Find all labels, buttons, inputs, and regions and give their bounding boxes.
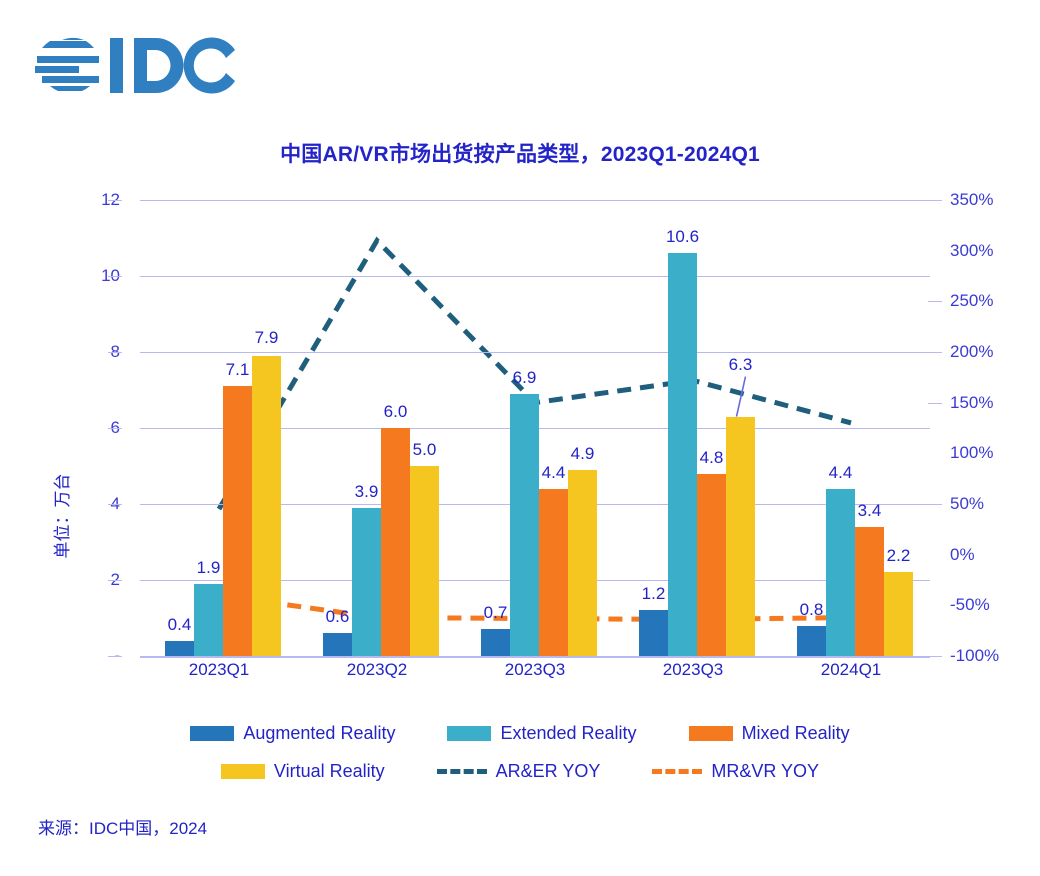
legend-swatch — [689, 726, 733, 741]
bar-value-label: 4.8 — [700, 448, 724, 468]
legend-item-mr-vr-yoy[interactable]: MR&VR YOY — [652, 761, 819, 782]
bar-virtual-reality[interactable] — [726, 417, 755, 656]
bar-extended-reality[interactable] — [194, 584, 223, 656]
left-tick-mark — [108, 504, 122, 505]
bar-augmented-reality[interactable] — [323, 633, 352, 656]
bar-value-label: 4.4 — [542, 463, 566, 483]
bar-mixed-reality[interactable] — [381, 428, 410, 656]
x-axis-label: 2023Q1 — [189, 660, 250, 680]
legend-label: MR&VR YOY — [711, 761, 819, 782]
legend-label: AR&ER YOY — [496, 761, 601, 782]
bar-mixed-reality[interactable] — [223, 386, 252, 656]
gridline — [140, 352, 930, 353]
right-tick-mark — [928, 301, 942, 302]
bar-value-label: 0.8 — [800, 600, 824, 620]
bar-value-label: 10.6 — [666, 227, 699, 247]
right-axis-tick: -50% — [950, 595, 1012, 615]
legend-row-top: Augmented RealityExtended RealityMixed R… — [0, 714, 1040, 752]
bar-virtual-reality[interactable] — [410, 466, 439, 656]
bar-value-label: 1.9 — [197, 558, 221, 578]
bar-mixed-reality[interactable] — [697, 474, 726, 656]
right-axis-tick: 350% — [950, 190, 1012, 210]
x-axis-label: 2024Q1 — [821, 660, 882, 680]
legend-item-augmented-reality[interactable]: Augmented Reality — [190, 723, 395, 744]
right-axis-tick: 300% — [950, 241, 1012, 261]
bar-value-label: 6.9 — [513, 368, 537, 388]
bar-value-label: 4.4 — [829, 463, 853, 483]
left-tick-mark — [108, 656, 122, 657]
right-axis-tick: 100% — [950, 443, 1012, 463]
bar-value-label: 6.0 — [384, 402, 408, 422]
bar-extended-reality[interactable] — [510, 394, 539, 656]
bar-value-label: 0.6 — [326, 607, 350, 627]
legend-item-ar-er-yoy[interactable]: AR&ER YOY — [437, 761, 601, 782]
bar-value-label: 0.4 — [168, 615, 192, 635]
x-axis-label: 2023Q3 — [505, 660, 566, 680]
bar-virtual-reality[interactable] — [884, 572, 913, 656]
left-tick-mark — [108, 428, 122, 429]
legend-swatch — [221, 764, 265, 779]
bar-augmented-reality[interactable] — [165, 641, 194, 656]
bar-extended-reality[interactable] — [352, 508, 381, 656]
bar-value-label: 3.4 — [858, 501, 882, 521]
left-tick-mark — [108, 352, 122, 353]
gridline — [140, 276, 930, 277]
bar-augmented-reality[interactable] — [797, 626, 826, 656]
plot-region: 0.41.97.17.92023Q10.63.96.05.02023Q20.76… — [140, 186, 930, 656]
bar-augmented-reality[interactable] — [639, 610, 668, 656]
bar-virtual-reality[interactable] — [252, 356, 281, 656]
legend-dash-icon — [437, 769, 487, 774]
right-axis-tick: 0% — [950, 545, 1012, 565]
right-tick-mark — [928, 504, 942, 505]
right-tick-mark — [928, 403, 942, 404]
idc-logo — [30, 28, 240, 100]
bar-value-label: 2.2 — [887, 546, 911, 566]
bar-virtual-reality[interactable] — [568, 470, 597, 656]
chart-title: 中国AR/VR市场出货按产品类型，2023Q1-2024Q1 — [0, 138, 1040, 168]
right-axis-tick: -100% — [950, 646, 1012, 666]
legend-item-extended-reality[interactable]: Extended Reality — [447, 723, 636, 744]
right-axis-tick: 200% — [950, 342, 1012, 362]
legend-row-bottom: Virtual RealityAR&ER YOYMR&VR YOY — [0, 752, 1040, 790]
bar-value-label: 7.9 — [255, 328, 279, 348]
bar-value-label: 7.1 — [226, 360, 250, 380]
bar-extended-reality[interactable] — [826, 489, 855, 656]
bar-mixed-reality[interactable] — [855, 527, 884, 656]
left-tick-mark — [108, 276, 122, 277]
right-tick-mark — [928, 352, 942, 353]
gridline — [140, 200, 930, 201]
chart-area: 单位：万台 12108642- 350%300%250%200%150%100%… — [0, 186, 1040, 696]
bar-mixed-reality[interactable] — [539, 489, 568, 656]
right-tick-mark — [928, 200, 942, 201]
right-axis-tick: 50% — [950, 494, 1012, 514]
bar-value-label: 4.9 — [571, 444, 595, 464]
chart-legend: Augmented RealityExtended RealityMixed R… — [0, 714, 1040, 790]
legend-dash-icon — [652, 769, 702, 774]
legend-label: Virtual Reality — [274, 761, 385, 782]
x-axis-label: 2023Q3 — [663, 660, 724, 680]
right-axis-tick: 250% — [950, 291, 1012, 311]
bar-value-label: 1.2 — [642, 584, 666, 604]
legend-label: Extended Reality — [500, 723, 636, 744]
left-axis: 12108642- — [60, 186, 120, 656]
legend-swatch — [190, 726, 234, 741]
bar-value-label: 0.7 — [484, 603, 508, 623]
gridline — [140, 656, 930, 658]
label-leader-line — [737, 377, 746, 417]
bar-augmented-reality[interactable] — [481, 629, 510, 656]
legend-label: Mixed Reality — [742, 723, 850, 744]
right-axis-tick: 150% — [950, 393, 1012, 413]
bar-extended-reality[interactable] — [668, 253, 697, 656]
bar-value-label: 6.3 — [729, 355, 753, 375]
legend-item-mixed-reality[interactable]: Mixed Reality — [689, 723, 850, 744]
bar-value-label: 5.0 — [413, 440, 437, 460]
left-tick-mark — [108, 200, 122, 201]
x-axis-label: 2023Q2 — [347, 660, 408, 680]
bar-value-label: 3.9 — [355, 482, 379, 502]
source-note: 来源：IDC中国，2024 — [38, 814, 207, 839]
legend-label: Augmented Reality — [243, 723, 395, 744]
right-axis: 350%300%250%200%150%100%50%0%-50%-100% — [928, 186, 1008, 656]
legend-swatch — [447, 726, 491, 741]
legend-item-virtual-reality[interactable]: Virtual Reality — [221, 761, 385, 782]
left-tick-mark — [108, 580, 122, 581]
right-tick-mark — [928, 656, 942, 657]
